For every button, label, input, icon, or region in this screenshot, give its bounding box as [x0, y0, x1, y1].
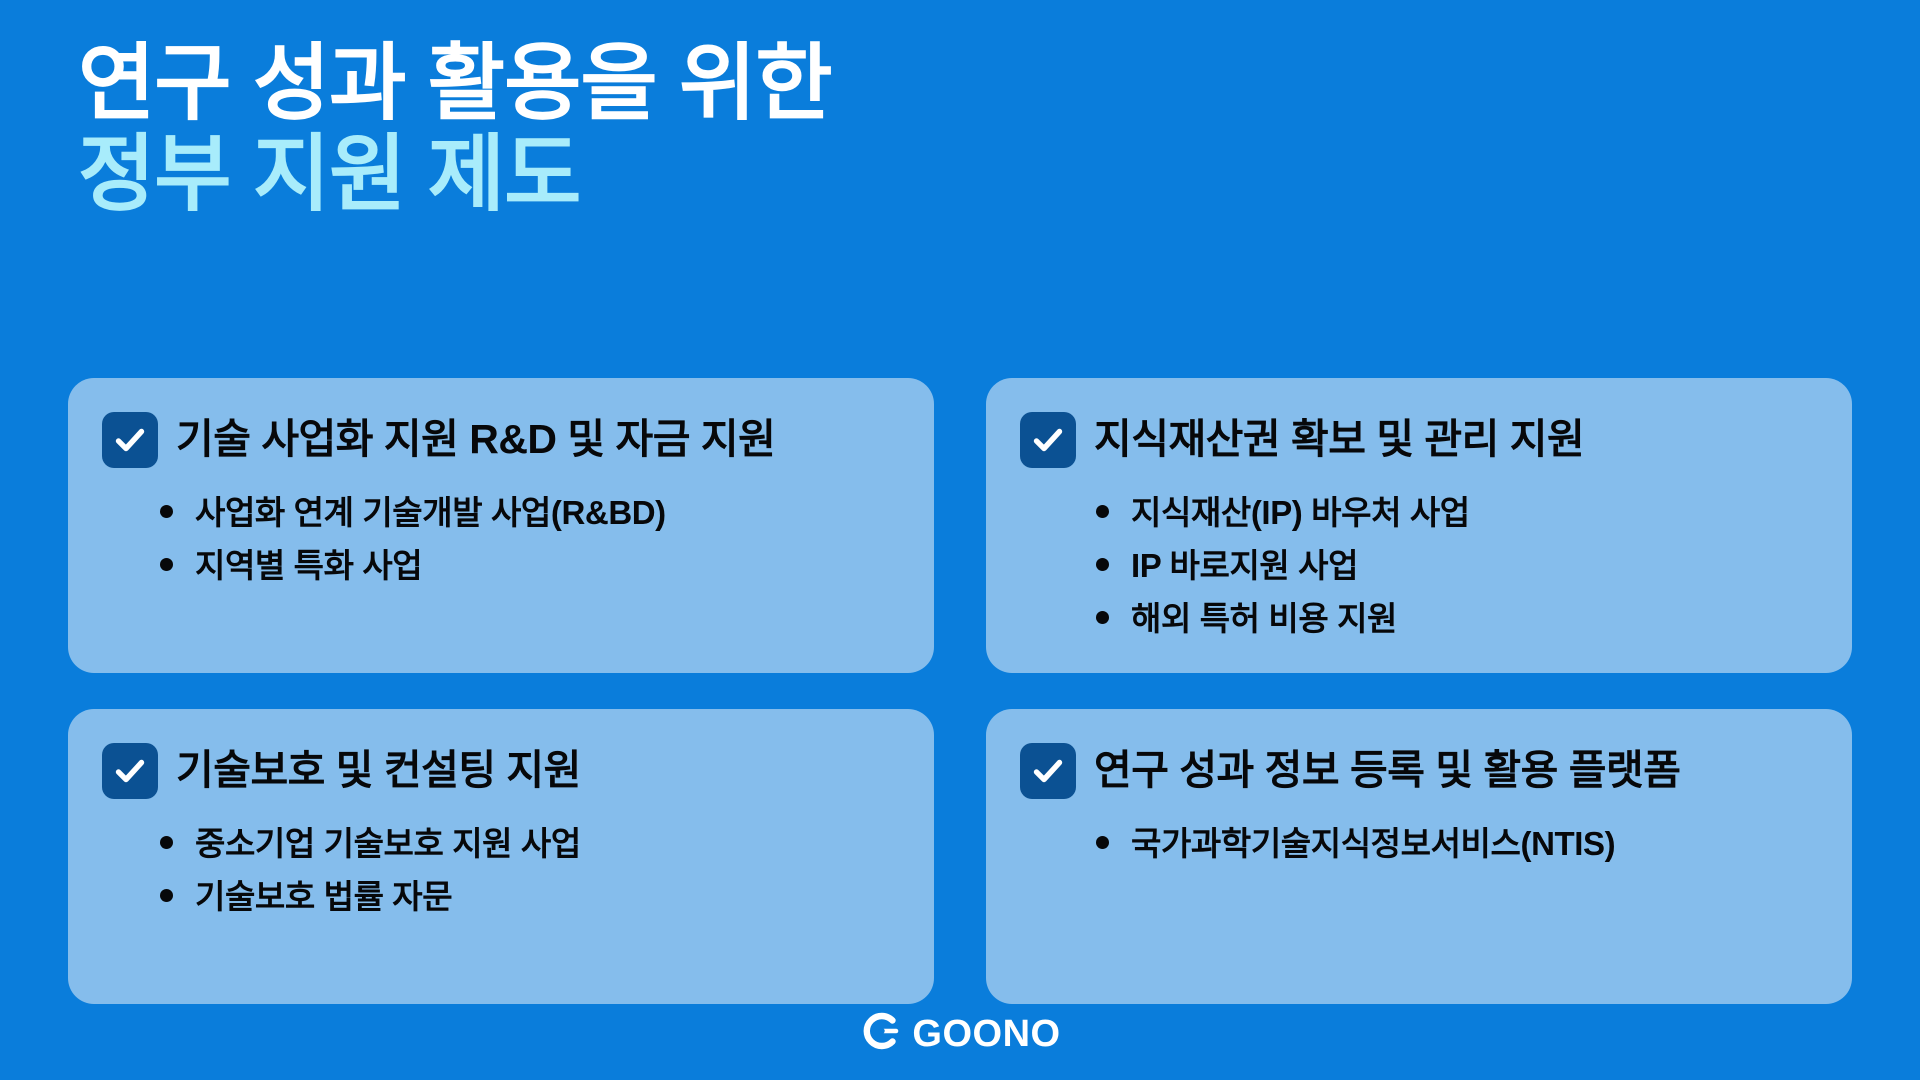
card-grid: 기술 사업화 지원 R&D 및 자금 지원 사업화 연계 기술개발 사업(R&B… [68, 378, 1852, 1004]
bullet-dot-icon [160, 836, 173, 849]
slide-root: 연구 성과 활용을 위한 정부 지원 제도 기술 사업화 지원 R&D 및 자금… [0, 0, 1920, 1080]
list-item-label: IP 바로지원 사업 [1131, 549, 1358, 582]
bullet-dot-icon [160, 889, 173, 902]
support-card-intellectual-property: 지식재산권 확보 및 관리 지원 지식재산(IP) 바우처 사업 IP 바로지원… [986, 378, 1852, 673]
card-header: 연구 성과 정보 등록 및 활용 플랫폼 [1020, 743, 1818, 799]
card-title: 기술보호 및 컨설팅 지원 [176, 748, 581, 794]
checkbox-checked-icon [1020, 743, 1076, 799]
card-bullet-list: 사업화 연계 기술개발 사업(R&BD) 지역별 특화 사업 [160, 486, 900, 592]
title-line-2: 정부 지원 제도 [78, 129, 1278, 220]
goono-g-mark-icon [859, 1009, 903, 1058]
support-card-technology-commercialization: 기술 사업화 지원 R&D 및 자금 지원 사업화 연계 기술개발 사업(R&B… [68, 378, 934, 673]
card-bullet-list: 국가과학기술지식정보서비스(NTIS) [1096, 817, 1818, 870]
title-line-1: 연구 성과 활용을 위한 [78, 38, 1278, 129]
goono-wordmark: GOONO [912, 1015, 1060, 1053]
support-card-research-platform: 연구 성과 정보 등록 및 활용 플랫폼 국가과학기술지식정보서비스(NTIS) [986, 709, 1852, 1004]
list-item: 국가과학기술지식정보서비스(NTIS) [1096, 817, 1818, 870]
list-item: 중소기업 기술보호 지원 사업 [160, 817, 900, 870]
bullet-dot-icon [160, 505, 173, 518]
support-card-technology-protection: 기술보호 및 컨설팅 지원 중소기업 기술보호 지원 사업 기술보호 법률 자문 [68, 709, 934, 1004]
list-item-label: 지식재산(IP) 바우처 사업 [1131, 496, 1470, 529]
bullet-dot-icon [1096, 611, 1109, 624]
bullet-dot-icon [160, 558, 173, 571]
checkbox-checked-icon [1020, 412, 1076, 468]
card-title: 기술 사업화 지원 R&D 및 자금 지원 [176, 417, 775, 463]
list-item-label: 해외 특허 비용 지원 [1131, 602, 1397, 635]
list-item-label: 중소기업 기술보호 지원 사업 [195, 827, 581, 860]
bullet-dot-icon [1096, 505, 1109, 518]
card-title: 지식재산권 확보 및 관리 지원 [1094, 417, 1584, 463]
card-header: 지식재산권 확보 및 관리 지원 [1020, 412, 1818, 468]
list-item: IP 바로지원 사업 [1096, 539, 1818, 592]
card-header: 기술 사업화 지원 R&D 및 자금 지원 [102, 412, 900, 468]
list-item-label: 국가과학기술지식정보서비스(NTIS) [1131, 827, 1615, 860]
card-header: 기술보호 및 컨설팅 지원 [102, 743, 900, 799]
list-item: 사업화 연계 기술개발 사업(R&BD) [160, 486, 900, 539]
list-item: 지식재산(IP) 바우처 사업 [1096, 486, 1818, 539]
bullet-dot-icon [1096, 558, 1109, 571]
list-item: 해외 특허 비용 지원 [1096, 592, 1818, 645]
checkbox-checked-icon [102, 412, 158, 468]
card-bullet-list: 중소기업 기술보호 지원 사업 기술보호 법률 자문 [160, 817, 900, 923]
footer-branding: GOONO [0, 1009, 1920, 1058]
card-bullet-list: 지식재산(IP) 바우처 사업 IP 바로지원 사업 해외 특허 비용 지원 [1096, 486, 1818, 645]
list-item: 기술보호 법률 자문 [160, 870, 900, 923]
list-item-label: 지역별 특화 사업 [195, 549, 422, 582]
list-item-label: 기술보호 법률 자문 [195, 880, 452, 913]
checkbox-checked-icon [102, 743, 158, 799]
list-item-label: 사업화 연계 기술개발 사업(R&BD) [195, 496, 666, 529]
card-title: 연구 성과 정보 등록 및 활용 플랫폼 [1094, 748, 1680, 794]
list-item: 지역별 특화 사업 [160, 539, 900, 592]
page-title: 연구 성과 활용을 위한 정부 지원 제도 [78, 38, 1278, 219]
bullet-dot-icon [1096, 836, 1109, 849]
